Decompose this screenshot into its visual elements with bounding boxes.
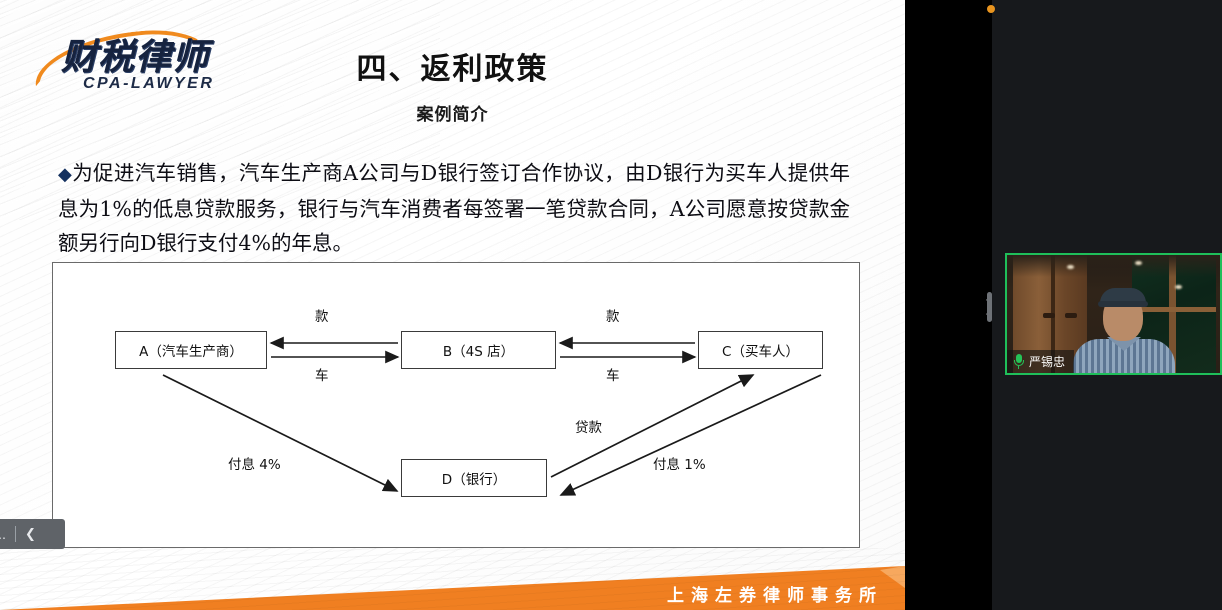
flow-diagram: A（汽车生产商） B（4S 店） C（买车人） D（银行） 款 车 款 车 付息… — [52, 262, 860, 548]
participant-video-tile[interactable]: 严锡忠 — [1005, 253, 1222, 375]
meeting-screen: 财税律师 CPA-LAWYER 四、返利政策 案例简介 ◆为促进汽车销售，汽车生… — [0, 0, 1222, 610]
slide-subtitle: 案例简介 — [0, 100, 905, 125]
diagram-node-d: D（银行） — [401, 459, 547, 497]
bullet-diamond-icon: ◆ — [58, 164, 72, 185]
participant-name-badge: 严锡忠 — [1007, 350, 1074, 373]
edge-label-fuxi-1-percent: 付息 1% — [653, 453, 706, 473]
diagram-arrows — [53, 263, 861, 549]
edge-label-kuan-bc: 款 — [606, 305, 620, 325]
body-text: 为促进汽车销售，汽车生产商A公司与D银行签订合作协议，由D银行为买车人提供年息为… — [58, 161, 850, 255]
slide-body-paragraph: ◆为促进汽车销售，汽车生产商A公司与D银行签订合作协议，由D银行为买车人提供年息… — [58, 156, 850, 260]
edge-label-fuxi-4-percent: 付息 4% — [228, 453, 281, 473]
edge-label-che-ab: 车 — [315, 364, 329, 384]
pill-label: 什么… — [0, 526, 6, 543]
firm-name: 上海左券律师事务所 — [667, 581, 883, 606]
collapse-left-chevron-icon[interactable]: ❮ — [25, 526, 36, 542]
share-letterbox — [905, 0, 985, 610]
recording-indicator-icon — [987, 5, 995, 13]
diagram-node-c: C（买车人） — [698, 331, 823, 369]
edge-label-kuan-ab: 款 — [315, 305, 329, 325]
edge-label-che-bc: 车 — [606, 364, 620, 384]
edge-label-daikuan: 贷款 — [575, 416, 602, 436]
diagram-node-a: A（汽车生产商） — [115, 331, 267, 369]
presentation-slide: 财税律师 CPA-LAWYER 四、返利政策 案例简介 ◆为促进汽车销售，汽车生… — [0, 0, 905, 610]
collapsed-toolbar-pill[interactable]: 什么… ❮ — [0, 519, 65, 549]
slide-title: 四、返利政策 — [0, 44, 905, 88]
participant-name: 严锡忠 — [1029, 353, 1065, 370]
microphone-icon — [1013, 354, 1024, 369]
screen-share-area[interactable]: 财税律师 CPA-LAWYER 四、返利政策 案例简介 ◆为促进汽车销售，汽车生… — [0, 0, 905, 610]
pill-divider — [15, 526, 16, 542]
slide-footer-band: 上海左券律师事务所 — [0, 548, 905, 610]
diagram-node-b: B（4S 店） — [401, 331, 556, 369]
